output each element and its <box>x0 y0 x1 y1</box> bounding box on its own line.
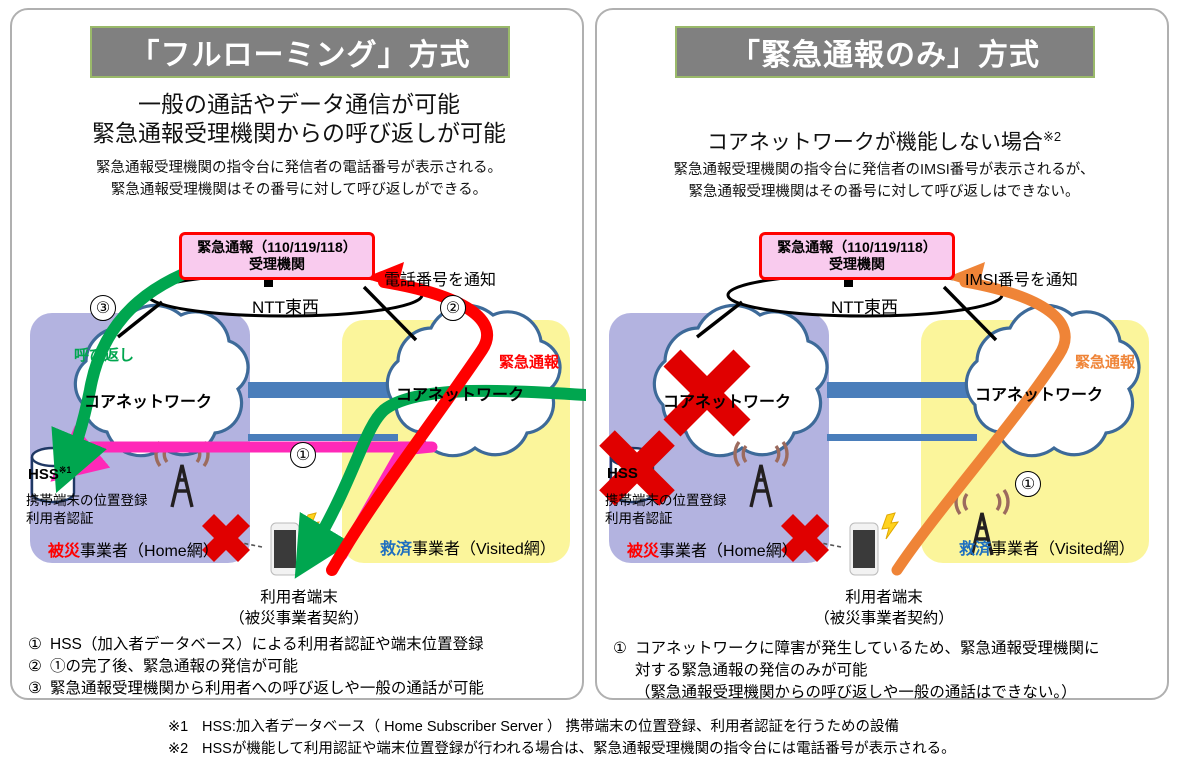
step-item-left-3: ③ 緊急通報受理機関から利用者への呼び返しや一般の通話が可能 <box>28 678 576 700</box>
visited-cloud-label-left: コアネットワーク <box>396 381 524 405</box>
hss-note-left: 携帯端末の位置登録 利用者認証 <box>26 492 148 528</box>
hss-text-left: HSS <box>28 466 59 483</box>
core-link-thick-right <box>827 382 977 398</box>
home-carrier-prefix-left: 被災 <box>48 543 80 560</box>
step-text-left-1: HSS（加入者データベース）による利用者認証や端末位置登録 <box>50 634 576 656</box>
circle-number-3-left: ③ <box>90 295 116 321</box>
home-carrier-label-right: 被災事業者（Home網） <box>627 537 798 561</box>
flow-label-emergency-left: 緊急通報 <box>499 351 559 372</box>
step-item-left-1: ① HSS（加入者データベース）による利用者認証や端末位置登録 <box>28 634 576 656</box>
ntt-label-right: NTT東西 <box>831 293 898 318</box>
user-terminal-phone <box>271 523 299 575</box>
notify-label-left: 電話番号を通知 <box>384 266 496 290</box>
step-text-left-3: 緊急通報受理機関から利用者への呼び返しや一般の通話が可能 <box>50 678 576 700</box>
step-number-right-1: ① <box>613 638 635 704</box>
emergency-agency-line2: 受理機関 <box>249 256 305 274</box>
step-number-left-3: ③ <box>28 678 50 700</box>
footnotes-block: ※1 HSS:加入者データベース（ Home Subscriber Server… <box>168 716 1173 761</box>
visited-carrier-prefix-left: 救済 <box>380 541 412 558</box>
step-item-right-1: ① コアネットワークに障害が発生しているため、緊急通報受理機関に 対する緊急通報… <box>613 638 1161 704</box>
home-cloud-label-left: コアネットワーク <box>84 388 212 412</box>
visited-carrier-rest-left: 事業者（Visited網） <box>412 541 556 558</box>
circle-number-1-left: ① <box>290 442 316 468</box>
footnote-marker-2: ※2 <box>168 738 202 760</box>
home-carrier-rest-right: 事業者（Home網） <box>659 543 798 560</box>
step-text-right-1: コアネットワークに障害が発生しているため、緊急通報受理機関に 対する緊急通報の発… <box>635 638 1161 704</box>
emergency-agency-line1-right: 緊急通報（110/119/118） <box>777 239 937 257</box>
hss-text-right: HSS <box>607 465 638 482</box>
visited-carrier-rest-right: 事業者（Visited網） <box>991 541 1135 558</box>
visited-carrier-label-left: 救済事業者（Visited網） <box>380 535 556 559</box>
ntt-label-left: NTT東西 <box>252 293 319 318</box>
notify-label-right: IMSI番号を通知 <box>965 266 1078 290</box>
panel-emergency-only: 「緊急通報のみ」方式 コアネットワークが機能しない場合※2 緊急通報受理機関の指… <box>595 8 1169 700</box>
footnote-text-2: HSSが機能して利用認証や端末位置登録が行われる場合は、緊急通報受理機関の指令台… <box>202 738 956 760</box>
steps-list-right: ① コアネットワークに障害が発生しているため、緊急通報受理機関に 対する緊急通報… <box>613 638 1161 704</box>
emergency-agency-line2-right: 受理機関 <box>829 256 885 274</box>
home-carrier-label-left: 被災事業者（Home網） <box>48 537 219 561</box>
circle-number-1-right: ① <box>1015 471 1041 497</box>
footnote-text-1: HSS:加入者データベース（ Home Subscriber Server ） … <box>202 716 899 738</box>
hss-label-right: HSS <box>607 465 638 482</box>
home-carrier-rest-left: 事業者（Home網） <box>80 543 219 560</box>
step-number-left-2: ② <box>28 656 50 678</box>
core-link-thick <box>248 382 398 398</box>
footnote-item-2: ※2 HSSが機能して利用認証や端末位置登録が行われる場合は、緊急通報受理機関の… <box>168 738 1173 760</box>
flow-label-emergency-right: 緊急通報 <box>1075 351 1135 372</box>
panel-full-roaming: 「フルローミング」方式 一般の通話やデータ通信が可能 緊急通報受理機関からの呼び… <box>10 8 584 700</box>
steps-list-left: ① HSS（加入者データベース）による利用者認証や端末位置登録 ② ①の完了後、… <box>28 634 576 700</box>
hss-footnote-marker-left: ※1 <box>59 465 72 475</box>
hss-note-right: 携帯端末の位置登録 利用者認証 <box>605 492 727 528</box>
home-cloud-label-right: コアネットワーク <box>663 388 791 412</box>
footnote-item-1: ※1 HSS:加入者データベース（ Home Subscriber Server… <box>168 716 1173 738</box>
emergency-agency-box-left: 緊急通報（110/119/118） 受理機関 <box>179 232 375 280</box>
visited-carrier-label-right: 救済事業者（Visited網） <box>959 535 1135 559</box>
step-text-left-2: ①の完了後、緊急通報の発信が可能 <box>50 656 576 678</box>
circle-number-2-left: ② <box>440 295 466 321</box>
emergency-agency-line1: 緊急通報（110/119/118） <box>197 239 357 257</box>
core-link-thin <box>248 434 398 441</box>
step-number-left-1: ① <box>28 634 50 656</box>
home-carrier-prefix-right: 被災 <box>627 543 659 560</box>
footnote-marker-1: ※1 <box>168 716 202 738</box>
terminal-caption-right: 利用者端末 （被災事業者契約） <box>597 588 1171 630</box>
emergency-agency-box-right: 緊急通報（110/119/118） 受理機関 <box>759 232 955 280</box>
hss-label-left: HSS※1 <box>28 465 71 483</box>
visited-cloud-label-right: コアネットワーク <box>975 381 1103 405</box>
signal-bolt-icon-right <box>882 513 898 539</box>
user-terminal-phone-right <box>850 523 878 575</box>
step-item-left-2: ② ①の完了後、緊急通報の発信が可能 <box>28 656 576 678</box>
visited-carrier-prefix-right: 救済 <box>959 541 991 558</box>
core-link-thin-right <box>827 434 977 441</box>
flow-label-callback-left: 呼び返し <box>74 344 134 365</box>
terminal-caption-left: 利用者端末 （被災事業者契約） <box>12 588 586 630</box>
